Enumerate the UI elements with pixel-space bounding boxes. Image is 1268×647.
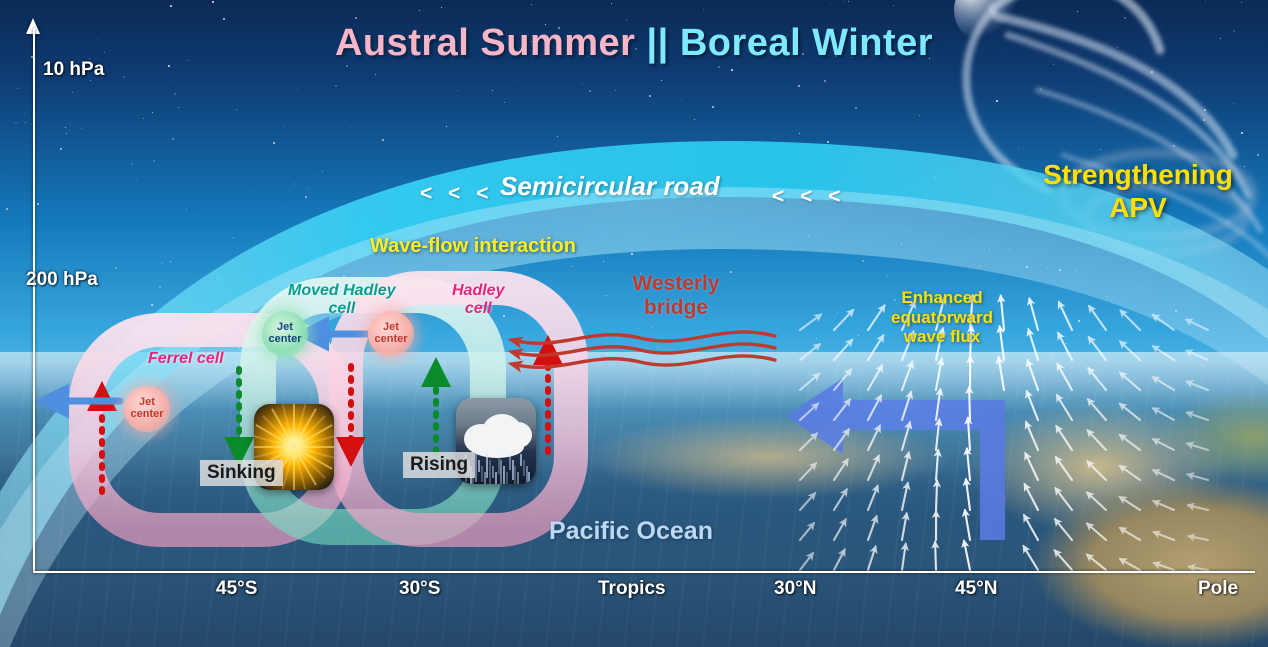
y-tick-10hpa: 10 hPa bbox=[43, 59, 104, 81]
y-tick-200hpa: 200 hPa bbox=[26, 269, 98, 291]
x-tick-45s: 45°S bbox=[216, 578, 257, 600]
pacific-ocean-label: Pacific Ocean bbox=[549, 517, 713, 546]
moved-hadley-cell-label: Moved Hadleycell bbox=[288, 282, 396, 318]
x-tick-pole: Pole bbox=[1198, 578, 1238, 600]
title-austral-summer: Austral Summer bbox=[335, 22, 647, 64]
hadley-cell-label: Hadleycell bbox=[452, 282, 504, 318]
ferrel-cell-label: Ferrel cell bbox=[148, 350, 224, 368]
y-axis-line bbox=[33, 28, 35, 573]
road-chevrons-left: < < < bbox=[420, 182, 493, 206]
rising-label: Rising bbox=[403, 452, 475, 478]
westerly-bridge-label: Westerlybridge bbox=[596, 272, 756, 320]
enhanced-wave-flux-label: Enhancedequatorwardwave flux bbox=[862, 288, 1022, 347]
diagram-canvas: Ferrel cell Moved Hadleycell Hadleycell … bbox=[0, 0, 1268, 647]
x-tick-tropics: Tropics bbox=[598, 578, 666, 600]
x-tick-45n: 45°N bbox=[955, 578, 997, 600]
x-axis-line bbox=[33, 571, 1255, 573]
jet-center-moved: Jetcenter bbox=[262, 311, 308, 357]
strengthening-apv-label: StrengtheningAPV bbox=[1018, 158, 1258, 224]
x-tick-30n: 30°N bbox=[774, 578, 816, 600]
x-tick-30s: 30°S bbox=[399, 578, 440, 600]
page-title: Austral Summer || Boreal Winter bbox=[0, 22, 1268, 65]
sinking-label: Sinking bbox=[200, 460, 283, 486]
road-chevrons-right: < < < bbox=[772, 185, 845, 209]
title-boreal-winter: Boreal Winter bbox=[680, 22, 933, 64]
wave-flow-interaction-label: Wave-flow interaction bbox=[370, 235, 576, 258]
title-separator: || bbox=[647, 22, 680, 64]
semicircular-road-label: Semicircular road bbox=[500, 171, 720, 202]
jet-center-hadley: Jetcenter bbox=[368, 311, 414, 357]
jet-center-left: Jetcenter bbox=[124, 386, 170, 432]
